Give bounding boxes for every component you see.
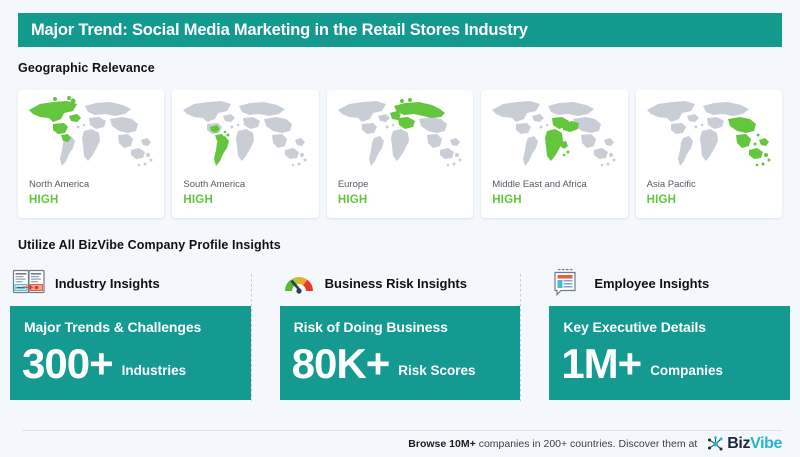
stat-caption: Key Executive Details (563, 319, 706, 335)
bizvibe-logo[interactable]: Biz Vibe (707, 435, 782, 453)
stat-figure: 1M+ Companies (561, 342, 723, 386)
geo-card-europe[interactable]: Europe HIGH (327, 90, 473, 218)
insight-column-business-risk: Business Risk Insights Risk of Doing Bus… (280, 266, 521, 404)
insight-heading-label: Business Risk Insights (325, 276, 467, 291)
world-map-europe-icon (334, 96, 467, 174)
column-divider (251, 274, 252, 402)
footer: Browse 10M+ companies in 200+ countries.… (0, 421, 800, 450)
stat-card-industry[interactable]: Major Trends & Challenges 300+ Industrie… (10, 306, 251, 400)
stat-number: 1M+ (561, 342, 641, 386)
insights-row: Industry Insights Major Trends & Challen… (10, 266, 790, 404)
stat-number: 80K+ (292, 342, 390, 386)
stat-card-employee[interactable]: Key Executive Details 1M+ Companies (549, 306, 790, 400)
stat-figure: 80K+ Risk Scores (292, 342, 476, 386)
world-map-south-america-icon (179, 96, 312, 174)
stat-unit: Industries (122, 363, 187, 378)
geo-card-relevance: HIGH (492, 194, 522, 206)
stat-figure: 300+ Industries (22, 342, 186, 386)
geo-card-relevance: HIGH (183, 194, 213, 206)
footer-browse-count: Browse 10M+ (408, 438, 475, 450)
geographic-relevance-card-row: North America HIGH (18, 90, 782, 220)
page-title: Major Trend: Social Media Marketing in t… (18, 21, 528, 40)
risk-gauge-icon (282, 267, 316, 299)
world-map-north-america-icon (25, 96, 158, 174)
geo-card-relevance: HIGH (338, 194, 368, 206)
insight-heading-label: Industry Insights (55, 276, 160, 291)
stat-caption: Risk of Doing Business (294, 319, 448, 335)
geo-card-relevance: HIGH (29, 194, 59, 206)
stat-number: 300+ (22, 342, 113, 386)
stat-unit: Companies (650, 363, 723, 378)
notepad-icon (551, 267, 585, 299)
insights-heading: Utilize All BizVibe Company Profile Insi… (18, 238, 281, 252)
world-map-asia-pacific-icon (643, 96, 776, 174)
documents-icon (12, 267, 46, 299)
geo-card-middle-east-and-africa[interactable]: Middle East and Africa HIGH (481, 90, 627, 218)
stat-caption: Major Trends & Challenges (24, 319, 201, 335)
insight-header: Employee Insights (549, 266, 790, 300)
geo-card-label: South America (183, 179, 245, 190)
column-divider (520, 274, 521, 402)
geo-card-label: Middle East and Africa (492, 179, 587, 190)
insight-column-industry: Industry Insights Major Trends & Challen… (10, 266, 251, 404)
world-map-middle-east-africa-icon (488, 96, 621, 174)
insight-header: Business Risk Insights (280, 266, 521, 300)
insight-column-employee: Employee Insights Key Executive Details … (549, 266, 790, 404)
logo-text-biz: Biz (727, 435, 750, 453)
geo-card-relevance: HIGH (647, 194, 677, 206)
insight-header: Industry Insights (10, 266, 251, 300)
footer-divider (22, 430, 782, 431)
header-bar: Major Trend: Social Media Marketing in t… (18, 13, 782, 47)
geo-card-label: Europe (338, 179, 369, 190)
logo-text-vibe: Vibe (750, 435, 782, 453)
geo-card-north-america[interactable]: North America HIGH (18, 90, 164, 218)
slide-canvas: Major Trend: Social Media Marketing in t… (0, 0, 800, 450)
geographic-relevance-heading: Geographic Relevance (18, 61, 155, 75)
stat-unit: Risk Scores (398, 363, 475, 378)
insight-heading-label: Employee Insights (594, 276, 709, 291)
footer-description: companies in 200+ countries. Discover th… (479, 438, 698, 450)
stat-card-business-risk[interactable]: Risk of Doing Business 80K+ Risk Scores (280, 306, 521, 400)
geo-card-south-america[interactable]: South America HIGH (172, 90, 318, 218)
geo-card-label: Asia Pacific (647, 179, 696, 190)
geo-card-label: North America (29, 179, 89, 190)
geo-card-asia-pacific[interactable]: Asia Pacific HIGH (636, 90, 782, 218)
footer-content: Browse 10M+ companies in 200+ countries.… (408, 435, 782, 453)
